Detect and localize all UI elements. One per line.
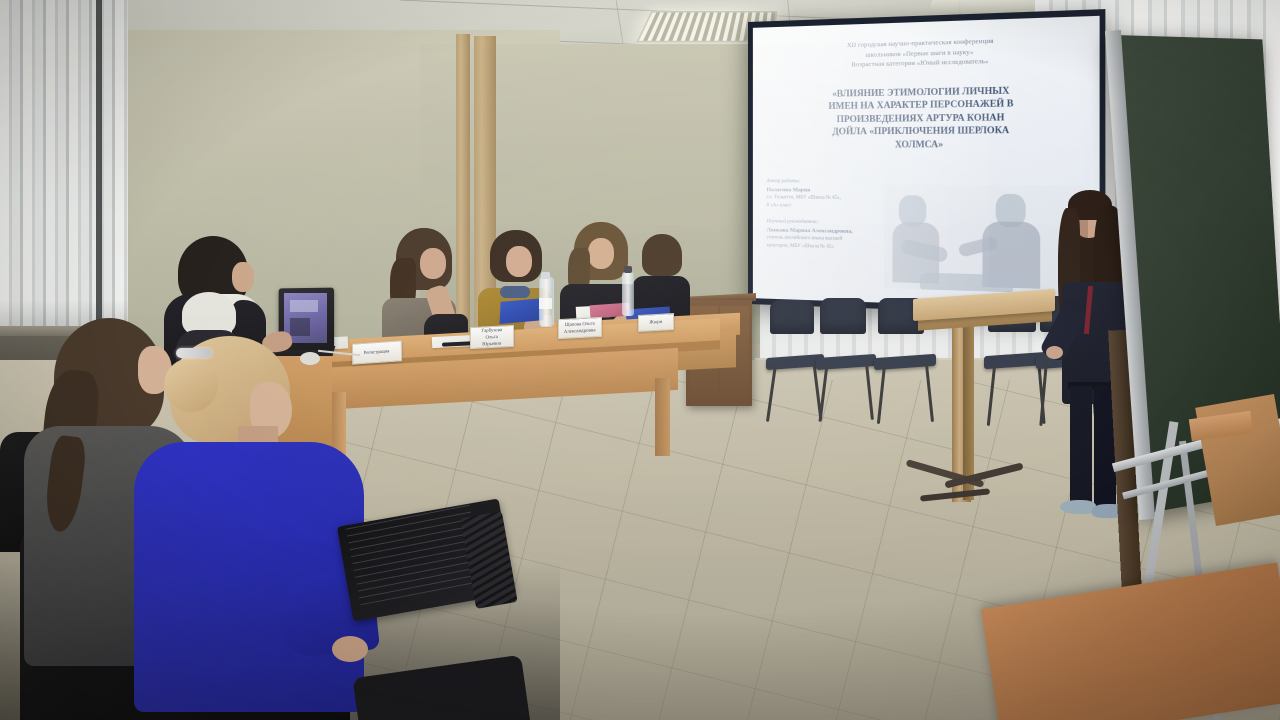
namecard-text: Жюри [650, 319, 663, 326]
audience-hand [332, 636, 368, 662]
namecard-text: Щапова Ольга Александровна [564, 321, 596, 336]
laptop-screen-content [290, 300, 318, 312]
presenter-hand [1046, 346, 1063, 359]
water-bottle[interactable] [622, 272, 634, 316]
namecard-jury: Гарбузова Ольга Юрьевна [470, 325, 514, 349]
table-leg [655, 378, 670, 456]
window-blinds-left [96, 0, 102, 330]
presenter-leg [1070, 386, 1092, 506]
slide-header: XII городская научно-практическая конфер… [753, 16, 1100, 73]
namecard-jury: Жюри [638, 313, 674, 332]
water-bottle-label [539, 298, 552, 309]
slide-author-block: Автор работы: Палагина Мария г.о. Тольят… [767, 178, 880, 310]
slide-advisor: Научный руководитель: Ляпкова Марина Але… [767, 218, 880, 252]
namecard-text: Гарбузова Ольга Юрьевна [482, 327, 503, 348]
advisor-school: категории, МБУ «Школа № 45» [767, 242, 880, 252]
desk-folder [500, 298, 545, 324]
conference-room-photo: XII городская научно-практическая конфер… [0, 0, 1280, 720]
laptop-screen-content [290, 318, 310, 336]
slide-title: «ВЛИЯНИЕ ЭТИМОЛОГИИ ЛИЧНЫХ ИМЕН НА ХАРАК… [753, 65, 1100, 152]
author-class: 8 «А» класс [767, 202, 880, 211]
audience-hair-bun [164, 358, 218, 412]
namecard-jury: Щапова Ольга Александровна [558, 317, 602, 339]
water-bottle-cap [624, 266, 632, 273]
water-bottle-cap [541, 272, 550, 279]
presenter-shoe [1060, 500, 1096, 514]
registrar-head [232, 262, 254, 292]
podium-stem [963, 322, 974, 500]
slide-author: Автор работы: Палагина Мария г.о. Тольят… [767, 178, 880, 211]
slide-title-line: ХОЛМСА» [769, 137, 1082, 152]
hair-clip [176, 348, 212, 358]
audience-lap [352, 655, 537, 720]
